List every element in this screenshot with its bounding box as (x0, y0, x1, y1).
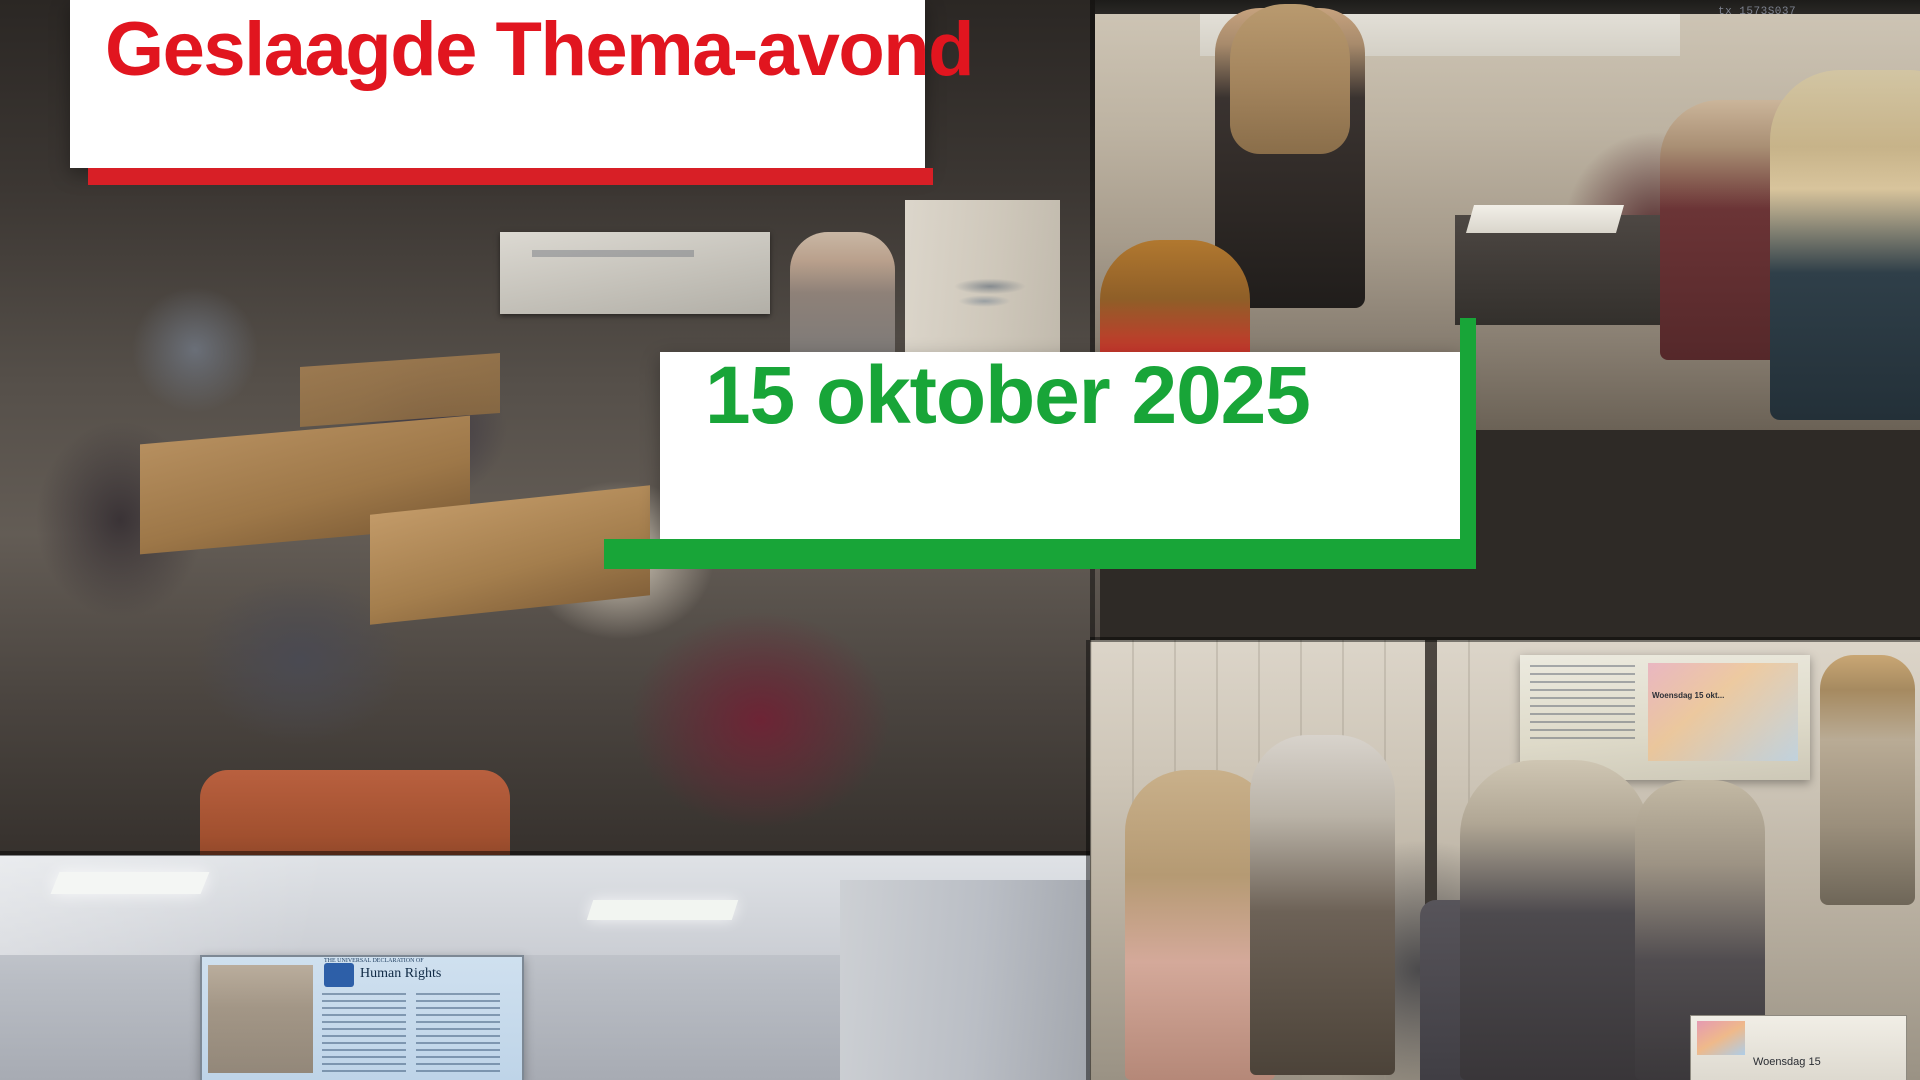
projection-screen-left (500, 232, 770, 314)
attendee-3-bottom-right (1460, 760, 1650, 1080)
speaker-hair (1230, 4, 1350, 154)
slide-subtitle: THE UNIVERSAL DECLARATION OF (324, 958, 424, 964)
attendee-woman-top-right (1770, 70, 1920, 420)
collage-seam-horizontal-left (0, 851, 1090, 856)
attendee-2-bottom-right (1250, 735, 1395, 1075)
mini-screen-caption: Woensdag 15 (1753, 1056, 1821, 1068)
collage-seam-vertical-bottom (1086, 640, 1091, 1080)
date-accent-right-bar (1460, 318, 1476, 539)
un-emblem-icon (324, 963, 354, 987)
ceiling-light-2 (587, 900, 738, 920)
title-card: Geslaagde Thema-avond (70, 0, 925, 168)
wall-right-bottom-left (840, 880, 1090, 1080)
screen-caption: Woensdag 15 okt... (1652, 691, 1724, 700)
slide-text-column-2 (416, 993, 500, 1075)
screen-bullet-text (1530, 665, 1635, 745)
event-date: 15 oktober 2025 (705, 355, 1310, 437)
mini-screen-bottom-right: Woensdag 15 (1690, 1015, 1907, 1080)
projector-code-label: tx 1573S037 (1718, 6, 1796, 18)
screen-graphic (1648, 663, 1798, 761)
date-accent-bottom-bar (604, 539, 1476, 569)
collage-seam-horizontal-right (1090, 637, 1920, 642)
presenter-figure-bottom-right (1820, 655, 1915, 905)
title-accent-bar (88, 168, 933, 185)
ceiling-light-1 (51, 872, 210, 894)
door-wave-logo-icon (935, 268, 1045, 314)
papers-on-table (1466, 205, 1624, 233)
mini-screen-graphic (1697, 1021, 1745, 1055)
poster-canvas: tx 1573S037 THE UNIVERSAL DECLARATION OF… (0, 0, 1920, 1080)
slide-historic-photo (208, 965, 313, 1073)
page-title: Geslaagde Thema-avond (105, 12, 973, 88)
slide-text-column-1 (322, 993, 406, 1075)
human-rights-slide: THE UNIVERSAL DECLARATION OF Human Right… (200, 955, 524, 1080)
slide-title: Human Rights (360, 966, 441, 982)
ceiling-rail-top-right (1095, 0, 1920, 14)
